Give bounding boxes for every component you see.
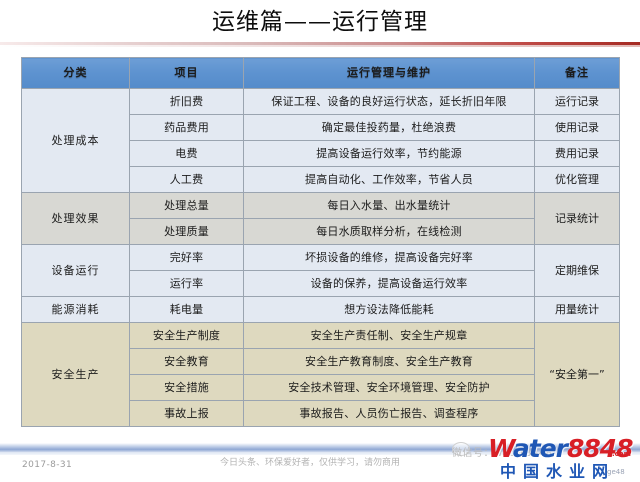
remark-cell: 定期维保 [535,245,620,297]
description-cell: 安全技术管理、安全环境管理、安全防护 [244,375,535,401]
table-body: 处理成本折旧费保证工程、设备的良好运行状态，延长折旧年限运行记录药品费用确定最佳… [22,89,620,427]
remark-cell: 运行记录 [535,89,620,115]
header-row: 分类 项目 运行管理与维护 备注 [22,58,620,89]
item-cell: 处理总量 [130,193,244,219]
category-cell: 设备运行 [22,245,130,297]
item-cell: 安全措施 [130,375,244,401]
item-cell: 药品费用 [130,115,244,141]
description-cell: 坏损设备的维修，提高设备完好率 [244,245,535,271]
item-cell: 安全生产制度 [130,323,244,349]
title-divider-shadow [0,45,640,47]
description-cell: 安全生产责任制、安全生产规章 [244,323,535,349]
description-cell: 保证工程、设备的良好运行状态，延长折旧年限 [244,89,535,115]
item-cell: 事故上报 [130,401,244,427]
operations-management-table: 分类 项目 运行管理与维护 备注 处理成本折旧费保证工程、设备的良好运行状态，延… [21,57,619,427]
description-cell: 每日入水量、出水量统计 [244,193,535,219]
table-row: 设备运行完好率坏损设备的维修，提高设备完好率定期维保 [22,245,620,271]
category-cell: 处理成本 [22,89,130,193]
item-cell: 安全教育 [130,349,244,375]
watermark-tld: .com [612,450,631,458]
remark-cell: 使用记录 [535,115,620,141]
table-row: 处理效果处理总量每日入水量、出水量统计记录统计 [22,193,620,219]
category-cell: 能源消耗 [22,297,130,323]
description-cell: 想方设法降低能耗 [244,297,535,323]
item-cell: 耗电量 [130,297,244,323]
description-cell: 提高设备运行效率，节约能源 [244,141,535,167]
description-cell: 事故报告、人员伤亡报告、调查程序 [244,401,535,427]
column-header-description: 运行管理与维护 [244,58,535,89]
page-title: 运维篇——运行管理 [0,6,640,38]
footer-disclaimer: 今日头条、环保爱好者，仅供学习，请勿商用 [200,457,420,469]
category-cell: 处理效果 [22,193,130,245]
item-cell: 处理质量 [130,219,244,245]
remark-cell: “安全第一” [535,323,620,427]
table-header: 分类 项目 运行管理与维护 备注 [22,58,620,89]
description-cell: 安全生产教育制度、安全生产教育 [244,349,535,375]
description-cell: 每日水质取样分析，在线检测 [244,219,535,245]
table-row: 能源消耗耗电量想方设法降低能耗用量统计 [22,297,620,323]
description-cell: 提高自动化、工作效率，节省人员 [244,167,535,193]
item-cell: 电费 [130,141,244,167]
footer-date: 2017-8-31 [22,460,72,470]
watermark-ge-tag: ge48 [607,468,625,476]
watermark: 微信号：water8848 Water8848 .com 中国水业网 ge48 [452,434,640,480]
column-header-item: 项目 [130,58,244,89]
item-cell: 人工费 [130,167,244,193]
description-cell: 设备的保养，提高设备运行效率 [244,271,535,297]
column-header-remark: 备注 [535,58,620,89]
category-cell: 安全生产 [22,323,130,427]
column-header-category: 分类 [22,58,130,89]
remark-cell: 用量统计 [535,297,620,323]
description-cell: 确定最佳投药量，杜绝浪费 [244,115,535,141]
item-cell: 完好率 [130,245,244,271]
table-row: 安全生产安全生产制度安全生产责任制、安全生产规章“安全第一” [22,323,620,349]
matrix-table: 分类 项目 运行管理与维护 备注 处理成本折旧费保证工程、设备的良好运行状态，延… [21,57,620,427]
item-cell: 折旧费 [130,89,244,115]
watermark-brand-cn: 中国水业网 [500,458,615,482]
remark-cell: 费用记录 [535,141,620,167]
remark-cell: 优化管理 [535,167,620,193]
remark-cell: 记录统计 [535,193,620,245]
table-row: 处理成本折旧费保证工程、设备的良好运行状态，延长折旧年限运行记录 [22,89,620,115]
item-cell: 运行率 [130,271,244,297]
